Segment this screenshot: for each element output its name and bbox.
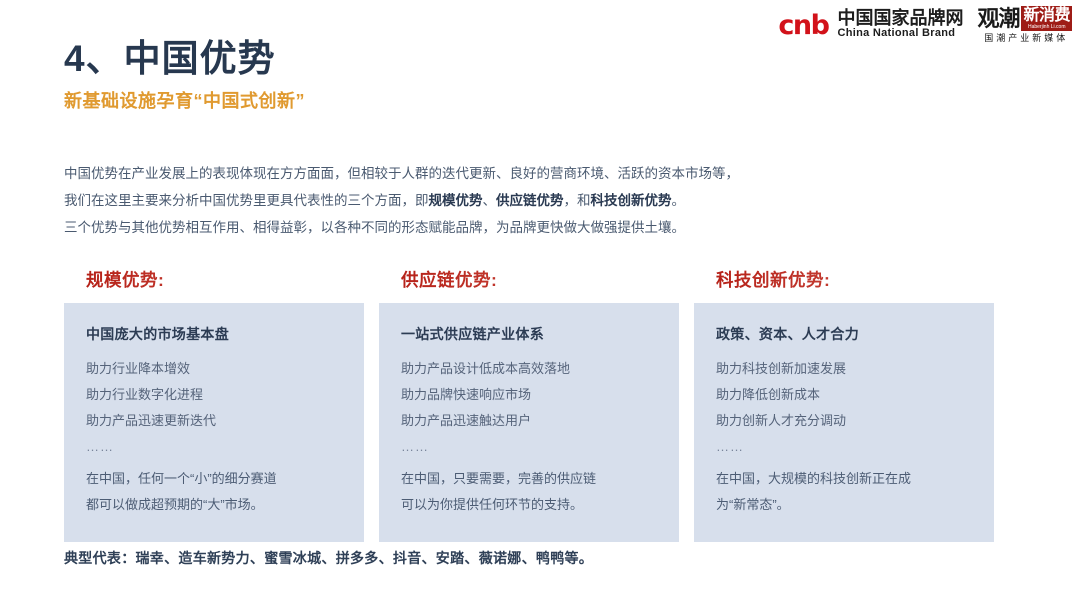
intro-line-2: 我们在这里主要来分析中国优势里更具代表性的三个方面，即规模优势、供应链优势，和科… — [64, 187, 944, 214]
cnb-english-name: China National Brand — [837, 28, 963, 40]
advantage-column-tech: 科技创新优势: 政策、资本、人才合力 助力科技创新加速发展 助力降低创新成本 助… — [694, 270, 994, 542]
guanchao-badge-pinyin: Haberjinh Li.com — [1023, 25, 1070, 30]
card-note-line: 在中国，只要需要，完善的供应链 — [401, 466, 657, 492]
card-ellipsis: …… — [86, 434, 342, 460]
intro-emphasis-supplychain: 供应链优势 — [496, 193, 564, 208]
column-heading-supplychain: 供应链优势: — [401, 270, 679, 291]
card-ellipsis: …… — [401, 434, 657, 460]
intro-paragraph: 中国优势在产业发展上的表现体现在方方面面，但相较于人群的迭代更新、良好的营商环境… — [64, 160, 944, 241]
advantage-card-tech: 政策、资本、人才合力 助力科技创新加速发展 助力降低创新成本 助力创新人才充分调… — [694, 303, 994, 542]
guanchao-name: 观潮 — [977, 8, 1019, 30]
intro-sep-3: 。 — [672, 193, 686, 208]
advantage-card-supplychain: 一站式供应链产业体系 助力产品设计低成本高效落地 助力品牌快速响应市场 助力产品… — [379, 303, 679, 542]
card-note-line: 可以为你提供任何环节的支持。 — [401, 492, 657, 518]
card-item: 助力行业降本增效 — [86, 356, 342, 382]
card-item: 助力品牌快速响应市场 — [401, 382, 657, 408]
card-note-scale: 在中国，任何一个“小”的细分赛道 都可以做成超预期的“大”市场。 — [86, 466, 342, 518]
intro-sep-1: 、 — [483, 193, 497, 208]
card-item: 助力产品迅速触达用户 — [401, 408, 657, 434]
card-item: 助力创新人才充分调动 — [716, 408, 972, 434]
card-item: 助力产品迅速更新迭代 — [86, 408, 342, 434]
card-note-line: 都可以做成超预期的“大”市场。 — [86, 492, 342, 518]
card-title-tech: 政策、资本、人才合力 — [716, 325, 972, 343]
card-item: 助力行业数字化进程 — [86, 382, 342, 408]
cnb-logo: cnb 中国国家品牌网 China National Brand — [778, 9, 963, 39]
card-note-supplychain: 在中国，只要需要，完善的供应链 可以为你提供任何环节的支持。 — [401, 466, 657, 518]
advantage-columns: 规模优势: 中国庞大的市场基本盘 助力行业降本增效 助力行业数字化进程 助力产品… — [64, 270, 1004, 542]
card-ellipsis: …… — [716, 434, 972, 460]
card-note-line: 在中国，任何一个“小”的细分赛道 — [86, 466, 342, 492]
cnb-chinese-name: 中国国家品牌网 — [837, 9, 963, 28]
intro-emphasis-scale: 规模优势 — [429, 193, 483, 208]
card-item: 助力科技创新加速发展 — [716, 356, 972, 382]
cnb-wordmark-icon: cnb — [778, 12, 828, 39]
card-note-line: 在中国，大规模的科技创新正在成 — [716, 466, 972, 492]
advantage-column-scale: 规模优势: 中国庞大的市场基本盘 助力行业降本增效 助力行业数字化进程 助力产品… — [64, 270, 364, 542]
column-heading-scale: 规模优势: — [86, 270, 364, 291]
advantage-card-scale: 中国庞大的市场基本盘 助力行业降本增效 助力行业数字化进程 助力产品迅速更新迭代… — [64, 303, 364, 542]
card-title-supplychain: 一站式供应链产业体系 — [401, 325, 657, 343]
advantage-column-supplychain: 供应链优势: 一站式供应链产业体系 助力产品设计低成本高效落地 助力品牌快速响应… — [379, 270, 679, 542]
intro-sep-2: ，和 — [564, 193, 591, 208]
column-heading-tech: 科技创新优势: — [716, 270, 994, 291]
intro-line-1: 中国优势在产业发展上的表现体现在方方面面，但相较于人群的迭代更新、良好的营商环境… — [64, 160, 944, 187]
card-note-tech: 在中国，大规模的科技创新正在成 为“新常态”。 — [716, 466, 972, 518]
intro-emphasis-tech: 科技创新优势 — [591, 193, 672, 208]
guanchao-logo: 观潮 新消费 Haberjinh Li.com 国潮产业新媒体 — [977, 6, 1072, 43]
card-item: 助力降低创新成本 — [716, 382, 972, 408]
intro-line-2-lead: 我们在这里主要来分析中国优势里更具代表性的三个方面，即 — [64, 193, 429, 208]
header-logo-bar: cnb 中国国家品牌网 China National Brand 观潮 新消费 … — [778, 6, 1072, 43]
page-title: 4、中国优势 — [64, 38, 305, 81]
footer-representative-brands: 典型代表：瑞幸、造车新势力、蜜雪冰城、拼多多、抖音、安踏、薇诺娜、鸭鸭等。 — [64, 548, 593, 568]
guanchao-badge-text: 新消费 — [1023, 7, 1070, 24]
cnb-mark-text: cnb — [778, 10, 828, 41]
cnb-logo-text: 中国国家品牌网 China National Brand — [837, 9, 963, 39]
guanchao-subtitle: 国潮产业新媒体 — [981, 34, 1068, 43]
intro-line-3: 三个优势与其他优势相互作用、相得益彰，以各种不同的形态赋能品牌，为品牌更快做大做… — [64, 214, 944, 241]
guanchao-logo-top: 观潮 新消费 Haberjinh Li.com — [977, 6, 1072, 31]
guanchao-badge: 新消费 Haberjinh Li.com — [1021, 6, 1072, 31]
card-title-scale: 中国庞大的市场基本盘 — [86, 325, 342, 343]
page-subtitle: 新基础设施孕育“中国式创新” — [64, 91, 305, 113]
card-item: 助力产品设计低成本高效落地 — [401, 356, 657, 382]
card-note-line: 为“新常态”。 — [716, 492, 972, 518]
title-block: 4、中国优势 新基础设施孕育“中国式创新” — [64, 38, 305, 112]
